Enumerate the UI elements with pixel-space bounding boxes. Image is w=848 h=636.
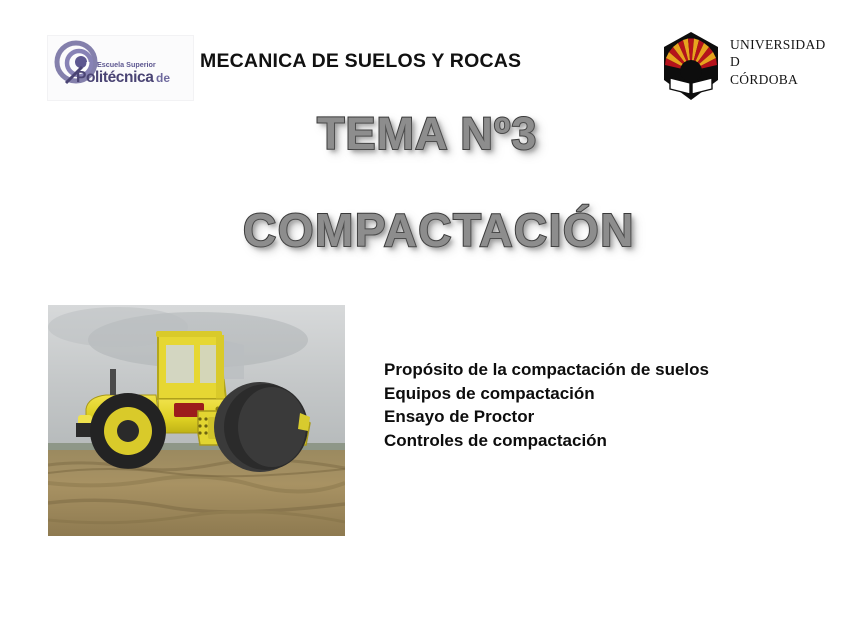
topic-list: Propósito de la compactación de suelos E… (384, 358, 804, 452)
exhaust-stack (110, 369, 116, 395)
slide-heading-primary: TEMA Nº3 (317, 108, 537, 160)
roller-compactor-photo (48, 305, 345, 536)
list-item: Ensayo de Proctor (384, 405, 804, 429)
school-logo: Escuela Superior Politécnica de (48, 36, 193, 100)
roller-compactor-illustration (48, 305, 345, 536)
uco-shield-icon (660, 30, 722, 102)
school-logo-main-1: Politécnica (76, 69, 154, 86)
university-logo: UNIVERSIDAD D CÓRDOBA (660, 30, 820, 106)
school-logo-graphic: Escuela Superior Politécnica de (48, 36, 193, 100)
course-title: MECANICA DE SUELOS Y ROCAS (200, 50, 521, 73)
uco-wordmark: UNIVERSIDAD D CÓRDOBA (730, 36, 826, 88)
uco-wordmark-line-1: UNIVERSIDAD (730, 36, 826, 53)
list-item: Equipos de compactación (384, 382, 804, 406)
list-item: Controles de compactación (384, 429, 804, 453)
uco-wordmark-line-3: CÓRDOBA (730, 71, 826, 88)
school-logo-main-2: de (156, 71, 170, 85)
uco-wordmark-line-2: D (730, 53, 826, 70)
rear-wheel (90, 393, 166, 469)
school-logo-supertext: Escuela Superior (97, 60, 156, 69)
slide-heading-secondary: COMPACTACIÓN (243, 203, 635, 257)
list-item: Propósito de la compactación de suelos (384, 358, 804, 382)
